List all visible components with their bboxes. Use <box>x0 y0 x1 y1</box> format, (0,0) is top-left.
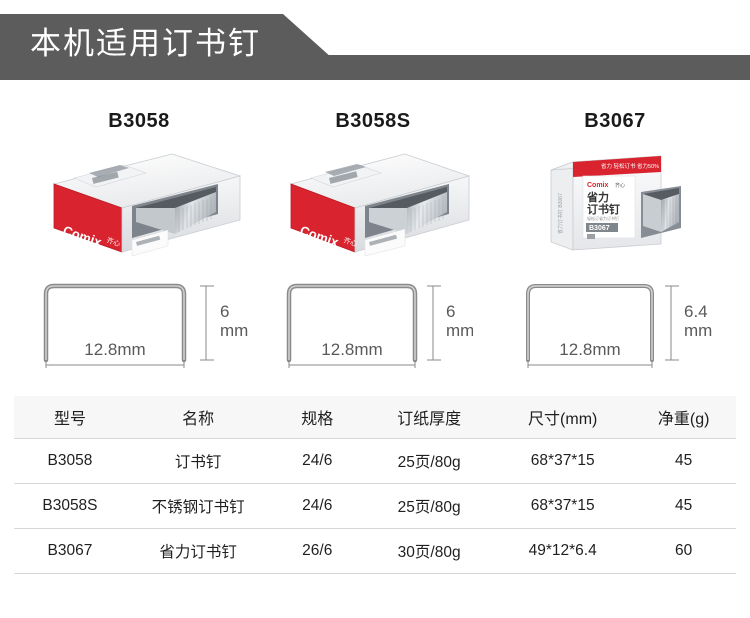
column-header-thickness: 订纸厚度 <box>364 396 494 438</box>
svg-text:省力订书钉 B3067: 省力订书钉 B3067 <box>557 193 564 234</box>
product-box-image: Comix 齐心 <box>14 142 264 272</box>
table-row: B3058 订书钉 24/6 25页/80g 68*37*15 45 <box>14 438 736 483</box>
product-box-image: Comix 齐心 <box>248 142 498 272</box>
product-title: B3058 <box>14 100 264 142</box>
staple-u-shape-icon: 6.4 mm 12.8mm <box>508 272 723 368</box>
page-title: 本机适用订书钉 <box>30 22 261 66</box>
cell-thickness: 30页/80g <box>364 528 494 573</box>
cell-size: 49*12*6.4 <box>494 528 631 573</box>
cell-weight: 60 <box>631 528 736 573</box>
product-card-b3067: B3067 <box>490 100 740 380</box>
staple-diagram: 6 mm 12.8mm <box>248 272 498 372</box>
cell-thickness: 25页/80g <box>364 483 494 528</box>
cell-size: 68*37*15 <box>494 438 631 483</box>
staple-width-label: 12.8mm <box>84 340 145 359</box>
svg-text:B3067: B3067 <box>589 225 610 232</box>
product-gallery: B3058 <box>0 100 750 380</box>
spec-table-head: 型号 名称 规格 订纸厚度 尺寸(mm) 净重(g) <box>14 396 736 438</box>
svg-text:省力: 省力 <box>586 190 609 204</box>
cell-spec: 24/6 <box>270 438 364 483</box>
table-row: B3067 省力订书钉 26/6 30页/80g 49*12*6.4 60 <box>14 528 736 573</box>
spec-table-body: B3058 订书钉 24/6 25页/80g 68*37*15 45 B3058… <box>14 438 736 573</box>
column-header-weight: 净重(g) <box>631 396 736 438</box>
staple-box-vertical-icon: 省力 轻松订书 省力50% Comix 齐心 省力 订书钉 轻松订省力订书钉 B… <box>535 142 695 267</box>
spec-table: 型号 名称 规格 订纸厚度 尺寸(mm) 净重(g) B3058 订书钉 24/… <box>14 396 736 574</box>
table-row: B3058S 不锈钢订书钉 24/6 25页/80g 68*37*15 45 <box>14 483 736 528</box>
svg-text:齐心: 齐心 <box>615 182 625 189</box>
staple-box-horizontal-icon: Comix 齐心 <box>32 142 247 267</box>
staple-height-value: 6 <box>220 302 229 321</box>
staple-diagram: 6.4 mm 12.8mm <box>490 272 740 372</box>
product-card-b3058s: B3058S <box>248 100 498 380</box>
product-card-b3058: B3058 <box>14 100 264 380</box>
staple-u-shape-icon: 6 mm 12.8mm <box>24 272 254 368</box>
svg-text:轻松订省力订书钉: 轻松订省力订书钉 <box>587 215 619 221</box>
staple-box-horizontal-icon: Comix 齐心 <box>271 142 476 267</box>
cell-thickness: 25页/80g <box>364 438 494 483</box>
staple-width-label: 12.8mm <box>321 340 382 359</box>
svg-text:订书钉: 订书钉 <box>587 202 620 216</box>
cell-name: 省力订书钉 <box>126 528 270 573</box>
table-header-row: 型号 名称 规格 订纸厚度 尺寸(mm) 净重(g) <box>14 396 736 438</box>
cell-model: B3058S <box>14 483 126 528</box>
staple-height-value: 6 <box>446 302 455 321</box>
staple-height-unit: mm <box>220 321 248 340</box>
column-header-size: 尺寸(mm) <box>494 396 631 438</box>
staple-height-value: 6.4 <box>684 302 708 321</box>
staple-u-shape-icon: 6 mm 12.8mm <box>273 272 473 368</box>
product-title: B3058S <box>248 100 498 142</box>
cell-spec: 24/6 <box>270 483 364 528</box>
cell-model: B3067 <box>14 528 126 573</box>
column-header-spec: 规格 <box>270 396 364 438</box>
svg-text:Comix: Comix <box>587 182 609 189</box>
staple-width-label: 12.8mm <box>559 340 620 359</box>
column-header-name: 名称 <box>126 396 270 438</box>
product-box-image: 省力 轻松订书 省力50% Comix 齐心 省力 订书钉 轻松订省力订书钉 B… <box>490 142 740 272</box>
cell-model: B3058 <box>14 438 126 483</box>
column-header-model: 型号 <box>14 396 126 438</box>
cell-name: 订书钉 <box>126 438 270 483</box>
page-banner: 本机适用订书钉 <box>0 0 750 100</box>
spec-table-container: 型号 名称 规格 订纸厚度 尺寸(mm) 净重(g) B3058 订书钉 24/… <box>14 396 736 574</box>
cell-spec: 26/6 <box>270 528 364 573</box>
staple-height-unit: mm <box>684 321 712 340</box>
staple-diagram: 6 mm 12.8mm <box>14 272 264 372</box>
product-title: B3067 <box>490 100 740 142</box>
cell-name: 不锈钢订书钉 <box>126 483 270 528</box>
svg-text:省力 轻松订书 省力50%: 省力 轻松订书 省力50% <box>601 162 659 170</box>
cell-weight: 45 <box>631 483 736 528</box>
cell-size: 68*37*15 <box>494 483 631 528</box>
staple-height-unit: mm <box>446 321 473 340</box>
cell-weight: 45 <box>631 438 736 483</box>
